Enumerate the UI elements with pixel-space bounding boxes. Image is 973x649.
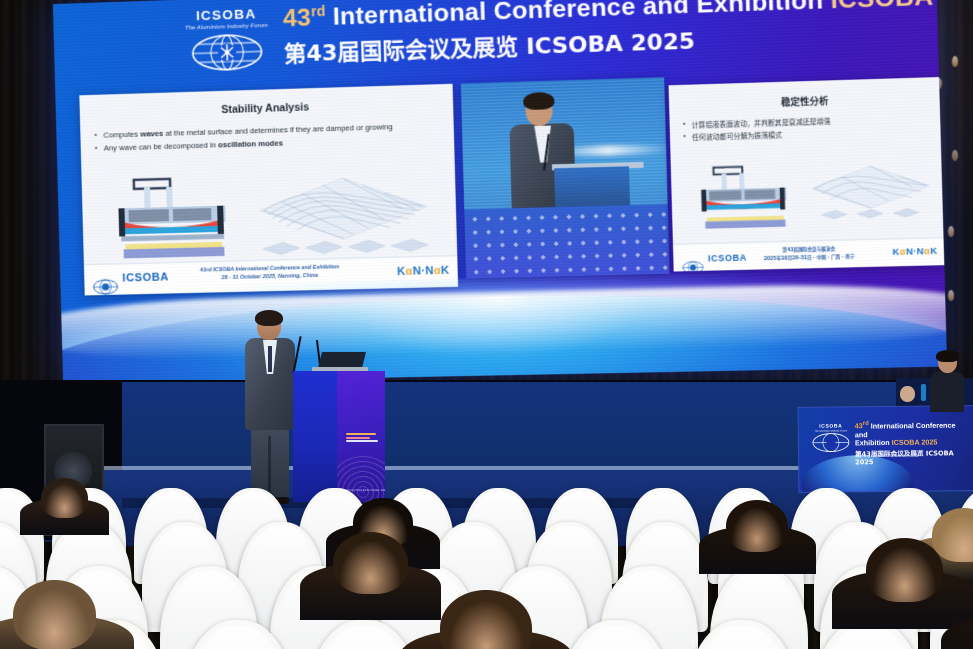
globe-icon (811, 432, 851, 452)
audience-member-head (41, 478, 88, 518)
title-highlight: ICSOBA 2025 (830, 0, 947, 15)
seated-person-right-second (896, 386, 918, 414)
audience-member-head (333, 532, 408, 594)
presenter-laptop (302, 352, 362, 372)
cell-cross-section-diagram (688, 164, 799, 233)
slide-title-chinese: 稳定性分析 (669, 90, 942, 112)
cell-cross-section-diagram (104, 175, 239, 263)
podium-branding (346, 433, 382, 444)
kannak-sponsor-logo: KαN·NαK (397, 266, 450, 278)
light-reflection (948, 290, 954, 301)
light-reflection (948, 226, 954, 237)
audience-member-head (866, 538, 943, 602)
slide-bullets-chinese: 计算铝液表面波动，并判断其是衰减还是增强 任何波动都可分解为振荡模式 (682, 114, 943, 143)
audience-area (0, 470, 973, 649)
globe-icon (189, 31, 265, 74)
live-video-feed (461, 77, 670, 278)
earth-horizon-graphic (61, 267, 948, 384)
light-reflection (952, 56, 958, 67)
kannak-sponsor-logo: KαN·NαK (892, 247, 937, 257)
title-ordinal: 43rd (283, 4, 327, 33)
main-led-screen: ICSOBA The Aluminium Industry Forum (53, 0, 947, 384)
slide-title-english: Stability Analysis (80, 97, 454, 120)
banner-subtitle: Nanning China 26-31 October, 2025 (855, 453, 919, 459)
icsoba-logo-name: ICSOBA (177, 7, 274, 24)
wave-surface-mesh-figure (805, 152, 937, 226)
audience-member-head (13, 580, 96, 649)
banner-logo: ICSOBA The Aluminium Industry Forum (809, 423, 853, 457)
slide-panel-english: Stability Analysis Computes waves at the… (79, 84, 458, 296)
audience-member-head (726, 500, 788, 552)
video-dot-pattern (464, 204, 669, 278)
water-bottle (921, 384, 926, 401)
slide-panel-chinese: 稳定性分析 计算铝液表面波动，并判断其是衰减还是增强 任何波动都可分解为振荡模式 (669, 77, 947, 272)
screen-title: 43rd International Conference and Exhibi… (283, 0, 928, 69)
icsoba-logo: ICSOBA The Aluminium Industry Forum (177, 7, 276, 74)
seated-person-right (930, 352, 964, 410)
slide-footer-chinese: ICSOBA The Aluminium Industry Forum 第43届… (673, 237, 946, 271)
wave-surface-mesh-figure (250, 161, 436, 259)
light-reflection (952, 150, 958, 161)
banner-title: 43rd International Conference andExhibit… (855, 420, 970, 466)
conference-photo: ICSOBA The Aluminium Industry Forum (0, 0, 973, 649)
slide-bullets-english: Computes waves at the metal surface and … (94, 119, 454, 154)
